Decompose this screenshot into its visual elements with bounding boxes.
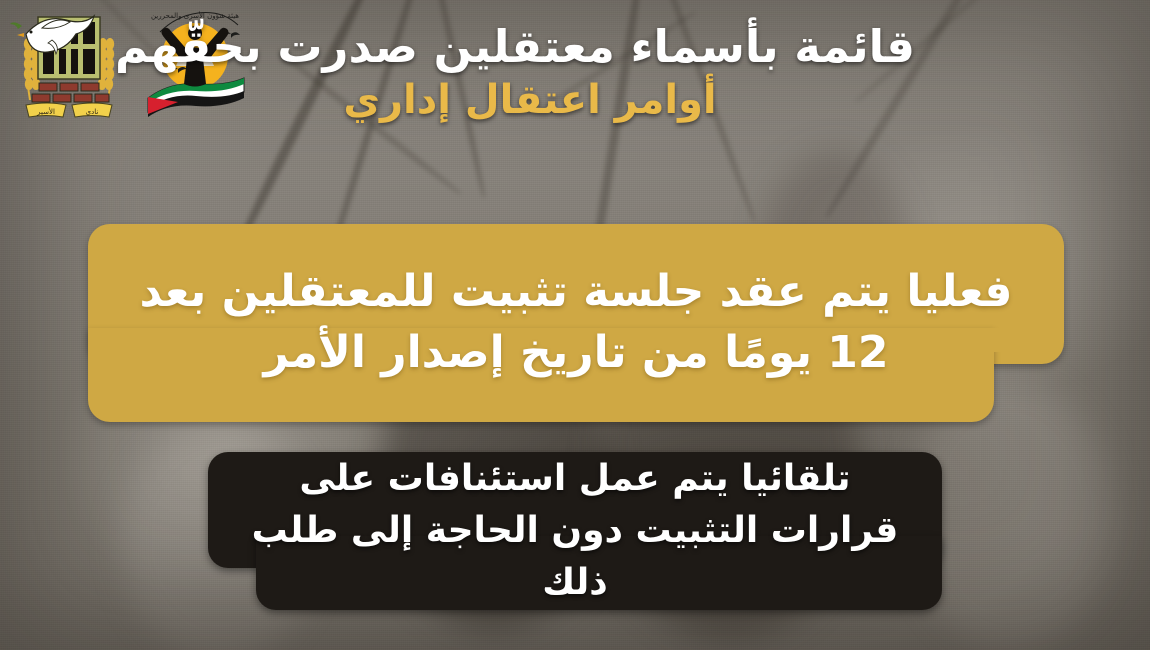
page-subtitle: أوامر اعتقال إداري bbox=[0, 75, 1150, 125]
dark-callout-text: تلقائيا يتم عمل استئنافات على قرارات الت… bbox=[208, 452, 942, 610]
poster-canvas: هيئة شؤون الأسرى والمحررين bbox=[0, 0, 1150, 650]
dark-callout-panel: تلقائيا يتم عمل استئنافات على قرارات الت… bbox=[208, 452, 942, 610]
title-block: قائمة بأسماء معتقلين صدرت بحقّهم أوامر ا… bbox=[0, 18, 1150, 125]
page-title: قائمة بأسماء معتقلين صدرت بحقّهم bbox=[0, 18, 1150, 77]
gold-callout-text: فعليا يتم عقد جلسة تثبيت للمعتقلين بعد 1… bbox=[88, 224, 1064, 422]
gold-callout-panel: فعليا يتم عقد جلسة تثبيت للمعتقلين بعد 1… bbox=[88, 224, 1064, 422]
poster-header: هيئة شؤون الأسرى والمحررين bbox=[0, 0, 1150, 180]
